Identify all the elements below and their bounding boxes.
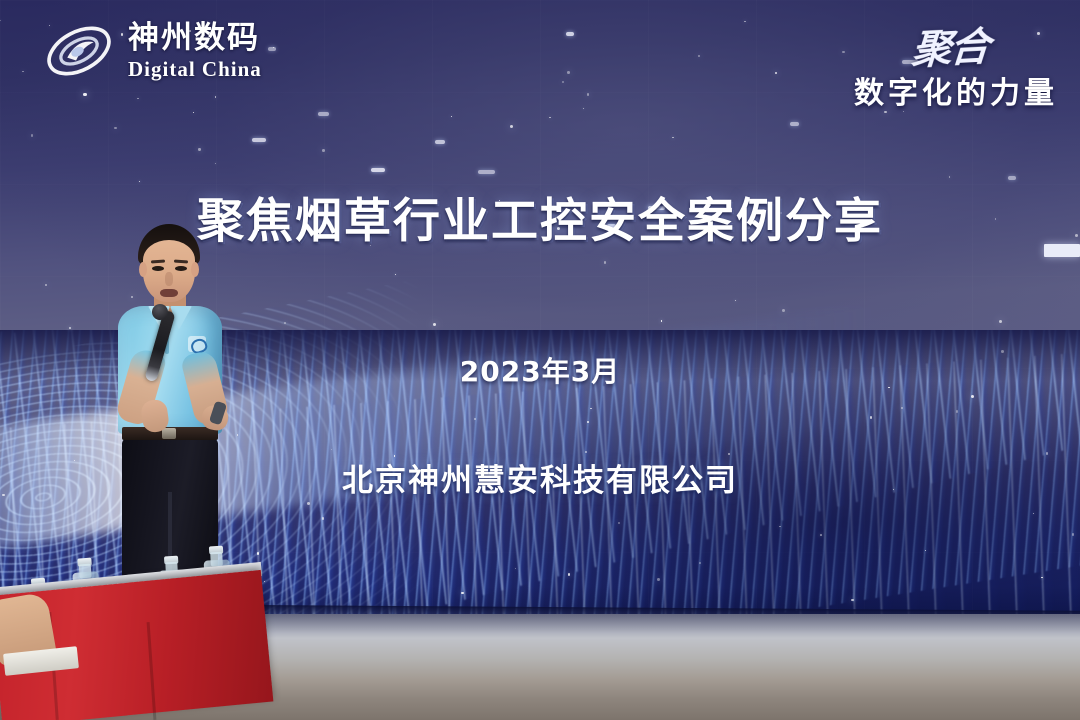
light-particle [870,416,873,419]
event-calligraphy: 聚合 [910,14,990,76]
decorative-bar [1044,244,1080,257]
light-particle [461,592,464,595]
light-particle [587,421,589,423]
light-particle [567,71,570,74]
speaker-belt-buckle [162,428,176,439]
light-dash-glint [371,168,385,172]
spiral-swoosh-logo-icon [42,18,116,84]
light-particle [568,573,570,575]
light-particle [744,21,745,22]
light-dash-glint [566,32,574,36]
light-dash-glint [1008,176,1016,180]
light-dash-glint [268,47,276,51]
light-particle [69,327,71,329]
event-slogan: 聚合 数字化的力量 [854,16,1058,112]
light-particle [618,522,620,524]
brand-name-cn: 神州数码 [128,23,262,54]
light-dash-glint [478,170,495,174]
brand-name-en: Digital China [128,59,262,80]
brand-logo-text: 神州数码 Digital China [128,23,262,80]
light-particle [22,71,24,73]
light-particle [657,578,660,581]
light-dash-glint [790,122,799,126]
speaker-ear-left [139,262,147,277]
light-particle [735,300,736,301]
light-particle [949,176,950,177]
light-particle [0,20,1,21]
event-slogan-text: 数字化的力量 [854,68,1058,112]
speaker-eye-right [175,266,187,271]
light-dash-glint [435,140,445,144]
light-particle [999,320,1002,323]
brand-logo: 神州数码 Digital China [42,18,262,84]
light-particle [215,163,216,164]
light-particle [284,322,286,324]
speaker-nose [165,272,173,286]
speaker-mouth [160,289,178,297]
light-particle [198,148,200,150]
light-particle [587,93,589,95]
light-particle [322,149,325,152]
light-particle [322,517,324,519]
light-particle [661,320,663,322]
light-particle [779,526,780,527]
light-particle [585,451,587,453]
speaker-ear-right [191,262,199,277]
conference-photo-scene: 神州数码 Digital China 聚合 数字化的力量 聚焦烟草行业工控安全案… [0,0,1080,720]
light-particle [851,599,854,602]
light-particle [474,418,476,420]
light-particle [562,81,564,83]
light-dash-glint [252,138,266,142]
light-dash-glint [318,112,329,116]
light-particle [842,51,845,54]
light-particle [257,552,260,555]
speaker-eye-left [152,266,164,271]
speaker-chest-logo-icon [188,336,206,352]
light-particle [83,93,86,96]
light-particle [820,534,822,536]
